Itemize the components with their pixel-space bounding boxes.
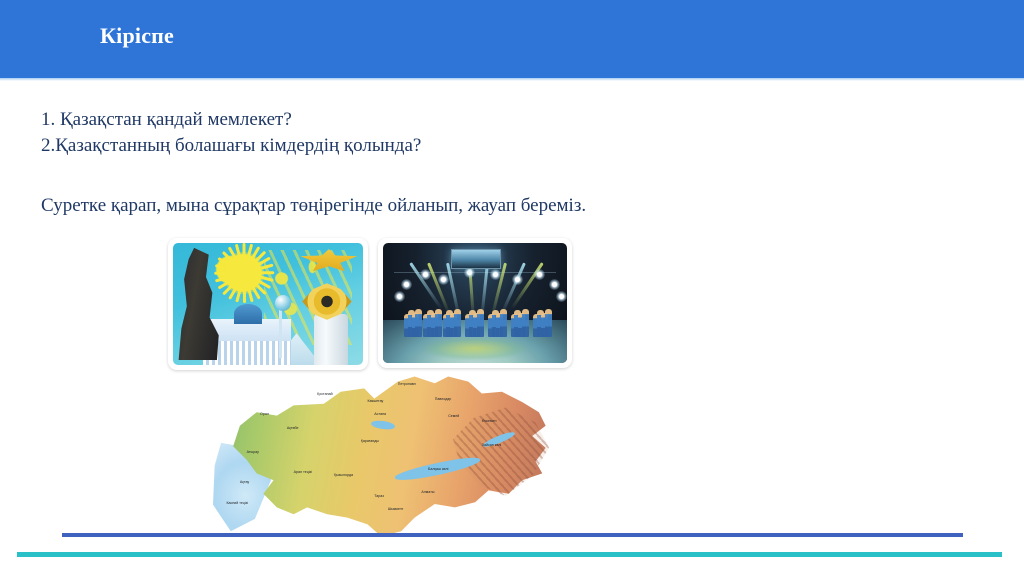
map-label: Орал	[260, 412, 269, 416]
map-label: Павлодар	[435, 397, 452, 401]
page-title: Кіріспе	[100, 23, 174, 49]
arena-jumbotron-screen	[451, 249, 501, 269]
map-label: Арал теңізі	[294, 470, 312, 474]
map-label: Ақтау	[240, 480, 249, 484]
image-kazakhstan-physical-map: ПетропавлҚостанайКөкшетауПавлодарОралАқт…	[213, 368, 549, 538]
stone-pillar	[314, 314, 348, 365]
map-label: Семей	[448, 414, 459, 418]
header-underglow	[0, 78, 1024, 81]
flag-sun-icon	[224, 254, 262, 292]
image-content	[173, 243, 363, 365]
question-1: 1. Қазақстан қандай мемлекет?	[41, 107, 421, 133]
map-label: Қарағанды	[361, 439, 379, 443]
baiterek-tower	[279, 309, 282, 358]
map-label: Өскемен	[482, 419, 497, 423]
map-label: Көкшетау	[368, 399, 384, 403]
map-label: Атырау	[247, 450, 259, 454]
questions-block: 1. Қазақстан қандай мемлекет? 2.Қазақста…	[41, 107, 421, 159]
image-kazakhstan-symbols-collage	[168, 238, 368, 370]
map-label: Алматы	[421, 490, 434, 494]
baiterek-sphere	[275, 295, 291, 311]
map-label: Балқаш көлі	[428, 467, 448, 471]
map-label: Қызылорда	[334, 473, 353, 477]
prompt-text: Суретке қарап, мына сұрақтар төңірегінде…	[41, 193, 586, 219]
map-label: Қостанай	[317, 392, 332, 396]
divider-blue	[62, 533, 963, 537]
palace-dome	[234, 304, 263, 324]
divider-teal	[17, 552, 1002, 557]
image-concert-arena-performance	[378, 238, 572, 368]
map-label: Зайсан көлі	[482, 443, 501, 447]
map-label: Ақтөбе	[287, 426, 299, 430]
image-content	[383, 243, 567, 363]
map-label: Астана	[374, 412, 386, 416]
slide-canvas: Кіріспе 1. Қазақстан қандай мемлекет? 2.…	[0, 0, 1024, 576]
question-2: 2.Қазақстанның болашағы кімдердің қолынд…	[41, 133, 421, 159]
map-label: Тараз	[374, 494, 384, 498]
map-label: Каспий теңізі	[226, 501, 248, 505]
map-label: Шымкент	[388, 507, 404, 511]
map-label: Петропавл	[398, 382, 416, 386]
dancers-group	[394, 308, 556, 337]
